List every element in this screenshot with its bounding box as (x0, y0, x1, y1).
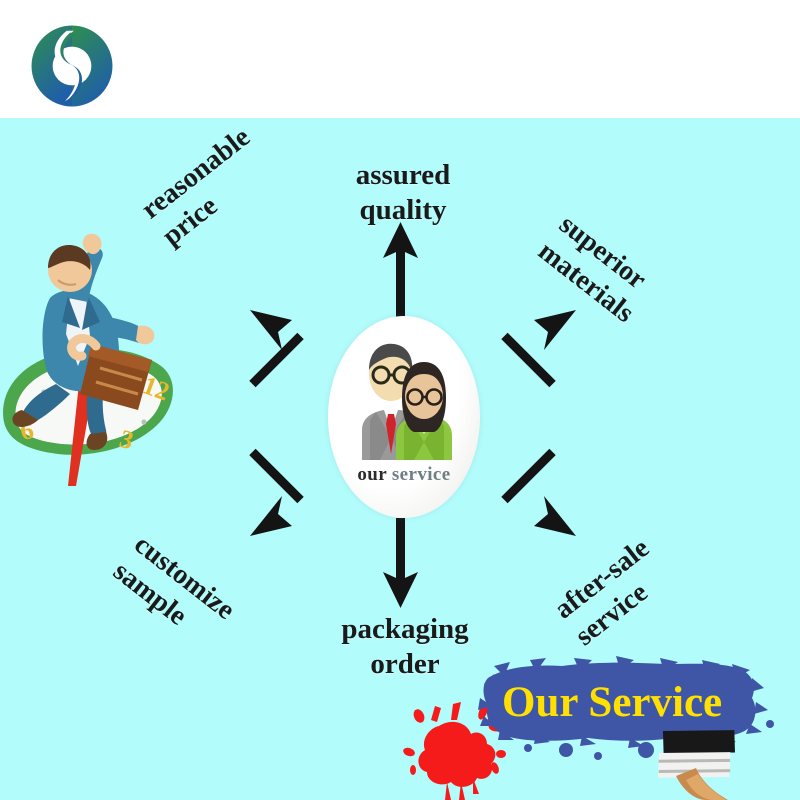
oval-caption: our service (328, 464, 480, 486)
caption-word-service: service (392, 464, 451, 485)
arrow-up-left (249, 310, 303, 387)
label-packaging-line1: packaging (330, 612, 480, 647)
two-people-icon (348, 334, 460, 460)
arrow-down-left (249, 449, 303, 536)
banner-title: Our Service (502, 679, 722, 726)
center-oval: our service (328, 316, 480, 518)
label-packaging-order: packaging order (330, 612, 480, 683)
arrow-down (383, 518, 418, 608)
caption-word-our: our (357, 464, 386, 485)
our-service-banner: Our Service (470, 650, 800, 800)
service-infographic: 12 3 6 (0, 0, 800, 800)
label-assured-line1: assured (345, 158, 461, 193)
arrow-up (383, 222, 418, 317)
label-packaging-line2: order (330, 647, 480, 682)
label-assured-line2: quality (345, 193, 461, 228)
label-assured-quality: assured quality (345, 158, 461, 229)
arrow-down-right (501, 449, 576, 536)
arrow-up-right (501, 310, 576, 387)
